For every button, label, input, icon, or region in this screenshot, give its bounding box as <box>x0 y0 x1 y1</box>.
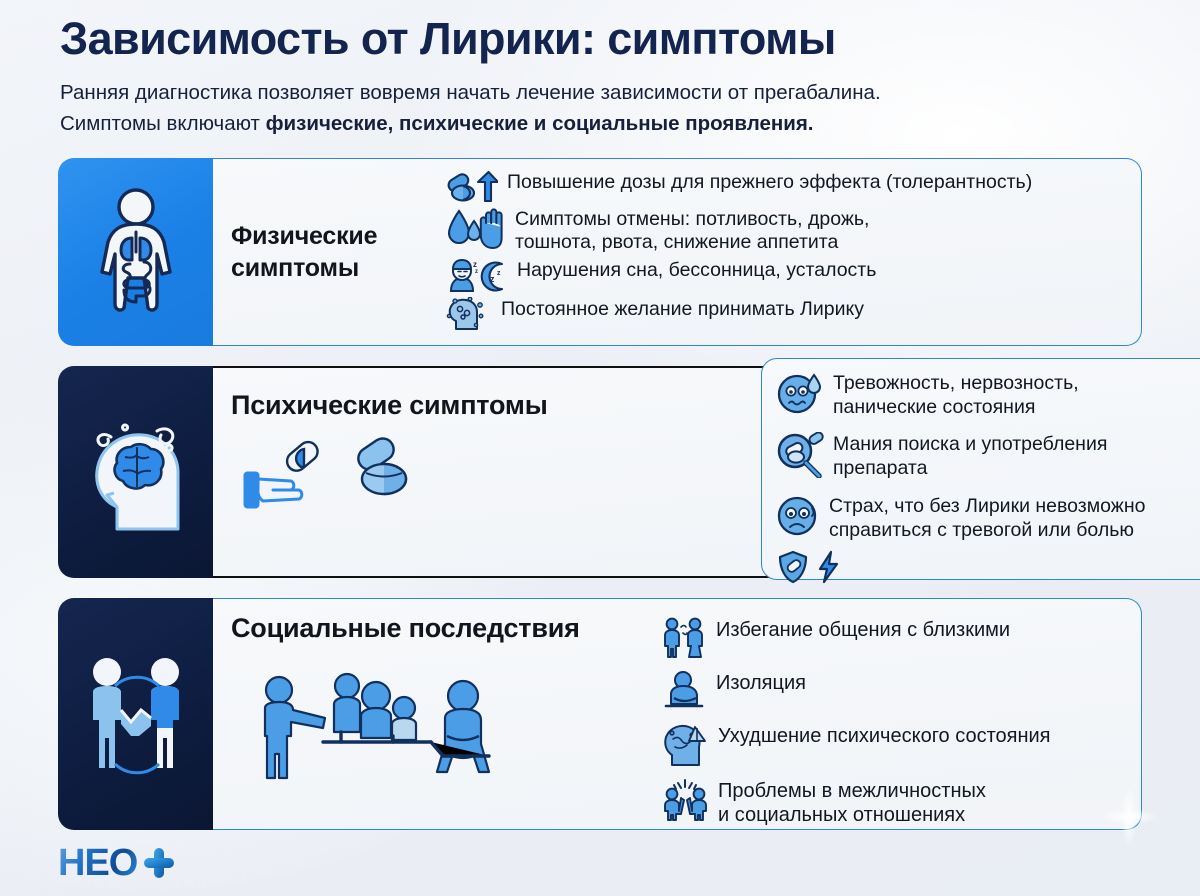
list-item[interactable]: Страх, что без Лирики невозможно справит… <box>776 494 1200 543</box>
sweat-drops-hand-icon <box>446 207 506 251</box>
list-item[interactable]: Проблемы в межличностных и социальных от… <box>661 778 1141 828</box>
list-item-text: Избегание общения с близкими <box>716 617 1010 642</box>
list-item-text: Повышение дозы для прежнего эффекта (тол… <box>507 170 1032 195</box>
lightning-bolt-icon <box>817 550 841 584</box>
list-item[interactable]: Избегание общения с близкими <box>661 617 1141 659</box>
list-item[interactable]: Изоляция <box>661 670 1141 712</box>
physical-icon-panel <box>58 158 213 346</box>
conflict-people-icon <box>661 778 709 822</box>
subtitle-line-2: Симптомы включают физические, психически… <box>60 109 1170 140</box>
list-item-line-2: тошнота, рвота, снижение аппетита <box>515 231 838 253</box>
list-item-text: Проблемы в межличностных и социальных от… <box>718 778 986 828</box>
list-item-line-1: Проблемы в межличностных <box>718 780 986 802</box>
subtitle-bold: физические, психические и социальные про… <box>266 112 814 135</box>
two-people-handshake-icon <box>77 652 195 776</box>
mental-card-body: Психические симптомы <box>213 366 1142 578</box>
list-item-line-2: панические состояния <box>833 396 1035 418</box>
anxious-face-icon <box>776 371 824 415</box>
craving-head-icon <box>446 297 492 331</box>
list-item[interactable]: Постоянное желание принимать Лирику <box>446 297 1133 331</box>
list-item-line-2: и социальных отношениях <box>718 804 965 826</box>
shield-pill-icon <box>778 550 808 584</box>
sleeping-face-moon-icon: z z z z <box>446 258 508 294</box>
list-item-line-2: справиться с тревогой или болью <box>829 519 1134 541</box>
human-anatomy-icon <box>88 186 184 318</box>
avoiding-people-icon <box>661 617 707 659</box>
list-item[interactable]: Ухудшение психического состояния <box>661 723 1141 767</box>
physical-card-title: Физические симптомы <box>231 220 446 284</box>
list-item-text: Тревожность, нервозность, панические сос… <box>833 371 1079 420</box>
list-item[interactable]: Повышение дозы для прежнего эффекта (тол… <box>446 170 1133 204</box>
list-item-text: Постоянное желание принимать Лирику <box>501 297 864 322</box>
svg-text:z: z <box>490 274 495 284</box>
social-icon-panel <box>58 598 213 830</box>
broken-mind-icon <box>661 723 709 767</box>
svg-text:z: z <box>475 269 478 275</box>
list-item-text: Изоляция <box>716 670 806 695</box>
list-item-line-2: препарата <box>833 457 927 479</box>
page-title: Зависимость от Лирики: симптомы <box>60 14 1200 64</box>
list-item-line-1: Мания поиска и употребления <box>833 433 1107 455</box>
brand-logo[interactable]: НЕО <box>58 844 176 882</box>
list-item-text: Мания поиска и употребления препарата <box>833 432 1107 481</box>
list-item[interactable]: Мания поиска и употребления препарата <box>776 432 1200 481</box>
physical-card-body: Физические симптомы <box>213 158 1142 346</box>
list-item-text: Ухудшение психического состояния <box>718 723 1051 748</box>
mental-footer-icons <box>778 550 1200 584</box>
family-group-isolation-icon <box>241 666 661 791</box>
list-item-text: Страх, что без Лирики невозможно справит… <box>829 494 1145 543</box>
sitting-alone-icon <box>661 670 707 712</box>
list-item[interactable]: z z z z Нарушения сна, бессонница, устал… <box>446 258 1133 294</box>
list-item-line-1: Страх, что без Лирики невозможно <box>829 495 1145 517</box>
head-brain-icon <box>81 411 191 533</box>
mental-symptom-list: Тревожность, нервозность, панические сос… <box>776 371 1200 597</box>
social-consequence-list: Избегание общения с близкими <box>661 613 1141 829</box>
list-item-line-1: Тревожность, нервозность, <box>833 372 1079 394</box>
logo-text: НЕО <box>58 844 137 882</box>
list-item-line-1: Симптомы отмены: потливость, дрожь, <box>515 208 869 230</box>
plus-icon <box>142 846 176 880</box>
social-card-body: Социальные последствия <box>213 598 1142 830</box>
subtitle-line-1: Ранняя диагностика позволяет вовремя нач… <box>60 78 1170 109</box>
card-social-consequences[interactable]: Социальные последствия <box>58 598 1142 830</box>
card-physical-symptoms[interactable]: Физические симптомы <box>58 158 1142 346</box>
physical-symptom-list: Повышение дозы для прежнего эффекта (тол… <box>446 170 1141 335</box>
header: Зависимость от Лирики: симптомы Ранняя д… <box>0 0 1200 140</box>
physical-title-line-2: симптомы <box>231 252 446 284</box>
list-item[interactable]: Тревожность, нервозность, панические сос… <box>776 371 1200 420</box>
page-subtitle: Ранняя диагностика позволяет вовремя нач… <box>60 78 1170 140</box>
pills-up-arrow-icon <box>446 170 498 204</box>
subtitle-normal: Симптомы включают <box>60 112 266 135</box>
mental-icon-panel <box>58 366 213 578</box>
magnifier-pills-icon <box>776 432 824 478</box>
card-mental-symptoms[interactable]: Психические симптомы <box>58 366 1142 578</box>
fearful-face-icon <box>776 494 820 538</box>
cards-container: Физические симптомы <box>0 158 1200 830</box>
list-item-text: Симптомы отмены: потливость, дрожь, тошн… <box>515 207 869 256</box>
svg-text:z: z <box>473 260 477 269</box>
list-item[interactable]: Симптомы отмены: потливость, дрожь, тошн… <box>446 207 1133 256</box>
list-item-text: Нарушения сна, бессонница, усталость <box>517 258 876 283</box>
social-card-title: Социальные последствия <box>231 613 661 644</box>
mental-symptom-box: Тревожность, нервозность, панические сос… <box>761 358 1200 580</box>
svg-text:z: z <box>497 270 501 277</box>
physical-title-line-1: Физические <box>231 220 446 252</box>
social-left-column: Социальные последствия <box>231 613 661 829</box>
